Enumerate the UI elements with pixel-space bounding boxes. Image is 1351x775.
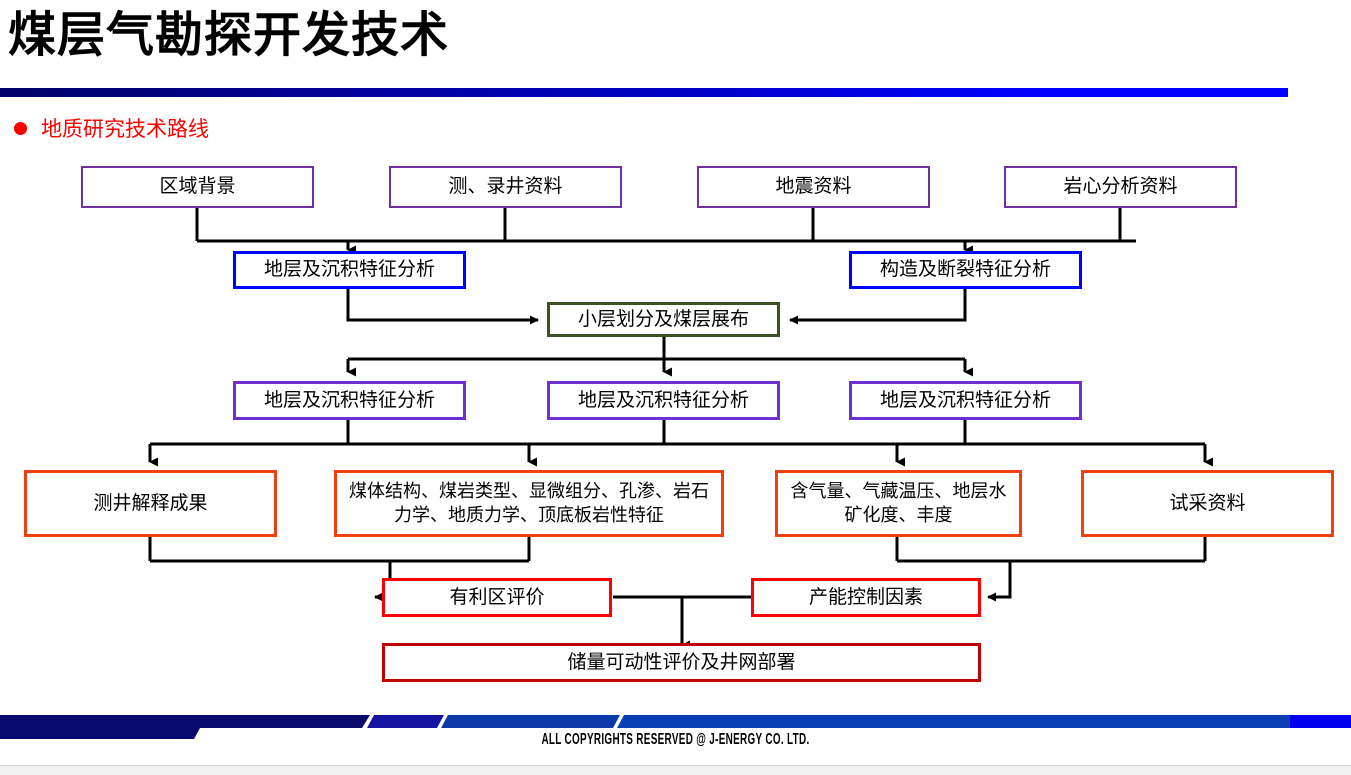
node-reserve-mobility[interactable]: 储量可动性评价及井网部署 xyxy=(382,643,981,682)
node-label: 有利区评价 xyxy=(449,585,544,610)
flowchart-diagram: 区域背景 测、录井资料 地震资料 岩心分析资料 地层及沉积特征分析 构造及断裂特… xyxy=(0,0,1351,774)
node-src-core[interactable]: 岩心分析资料 xyxy=(1004,166,1237,208)
node-label: 测井解释成果 xyxy=(93,491,207,516)
node-label: 小层划分及煤层展布 xyxy=(578,307,749,332)
node-src-seismic[interactable]: 地震资料 xyxy=(697,166,930,208)
node-label: 地层及沉积特征分析 xyxy=(578,388,749,413)
node-label: 试采资料 xyxy=(1169,491,1245,516)
node-favorable-area[interactable]: 有利区评价 xyxy=(382,578,612,617)
node-label: 地层及沉积特征分析 xyxy=(880,388,1051,413)
node-label: 产能控制因素 xyxy=(809,585,923,610)
node-label: 构造及断裂特征分析 xyxy=(880,257,1051,282)
node-label: 岩心分析资料 xyxy=(1063,174,1177,199)
node-label: 区域背景 xyxy=(159,174,235,199)
node-label: 测、录井资料 xyxy=(448,174,562,199)
footer-copyright: ALL COPYRIGHTS RESERVED @ J-ENERGY CO. L… xyxy=(257,731,1095,749)
node-strata-analysis-3[interactable]: 地层及沉积特征分析 xyxy=(547,381,780,420)
node-structure-fault-analysis[interactable]: 构造及断裂特征分析 xyxy=(849,251,1082,289)
node-log-interpretation[interactable]: 测井解释成果 xyxy=(24,470,277,537)
node-label: 煤体结构、煤岩类型、显微组分、孔渗、岩石力学、地质力学、顶底板岩性特征 xyxy=(343,480,715,528)
node-pilot-production[interactable]: 试采资料 xyxy=(1081,470,1334,537)
node-layer-division[interactable]: 小层划分及煤层展布 xyxy=(547,302,780,337)
node-src-logging[interactable]: 测、录井资料 xyxy=(389,166,622,208)
node-src-region[interactable]: 区域背景 xyxy=(81,166,314,208)
node-strata-analysis-1[interactable]: 地层及沉积特征分析 xyxy=(233,251,466,289)
node-strata-analysis-2[interactable]: 地层及沉积特征分析 xyxy=(233,381,466,420)
node-label: 地层及沉积特征分析 xyxy=(264,257,435,282)
node-label: 储量可动性评价及井网部署 xyxy=(567,650,795,675)
node-coal-properties[interactable]: 煤体结构、煤岩类型、显微组分、孔渗、岩石力学、地质力学、顶底板岩性特征 xyxy=(334,470,724,537)
node-label: 含气量、气藏温压、地层水矿化度、丰度 xyxy=(784,480,1013,528)
node-label: 地层及沉积特征分析 xyxy=(264,388,435,413)
node-label: 地震资料 xyxy=(775,174,851,199)
node-strata-analysis-4[interactable]: 地层及沉积特征分析 xyxy=(849,381,1082,420)
node-gas-content[interactable]: 含气量、气藏温压、地层水矿化度、丰度 xyxy=(775,470,1022,537)
node-capacity-control[interactable]: 产能控制因素 xyxy=(751,578,981,617)
